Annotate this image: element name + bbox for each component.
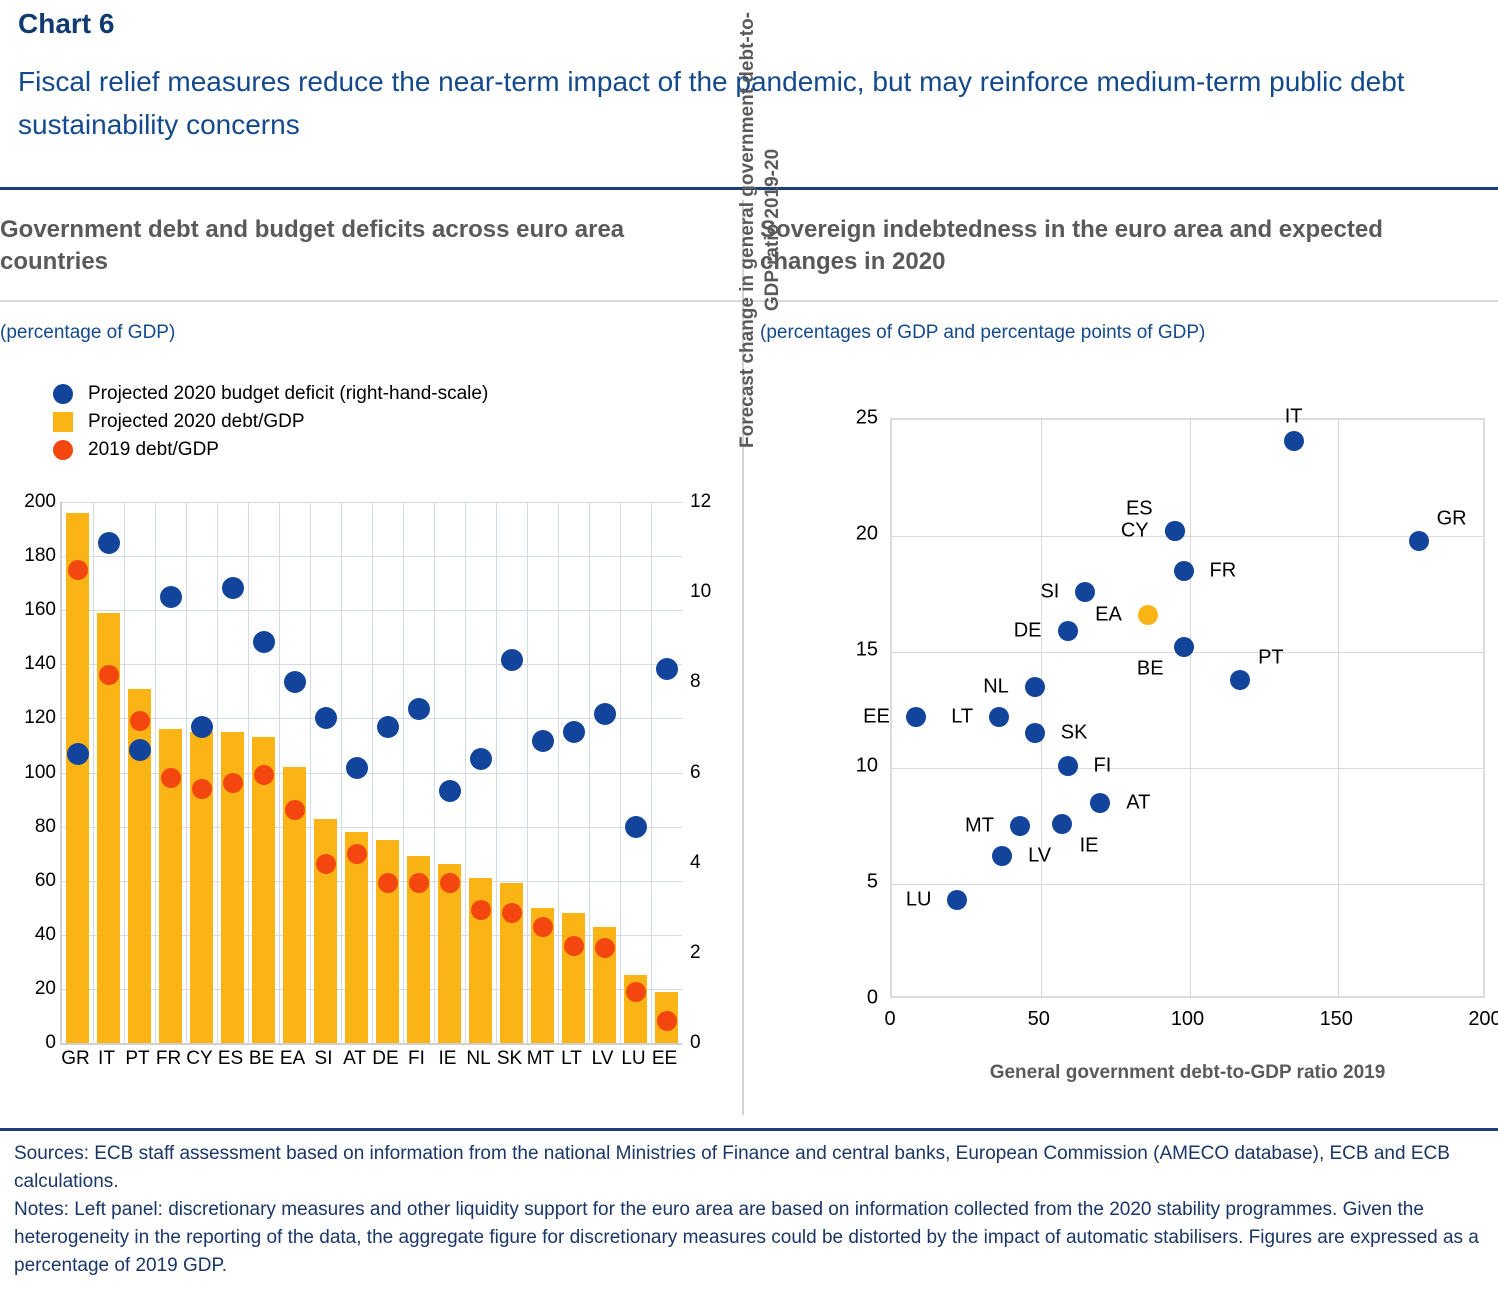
bar-y-tick-left: 200 [0,491,56,513]
bar-y-tick-right: 12 [690,491,750,513]
scatter-gridline [892,768,1483,769]
scatter-x-tick: 0 [860,1008,920,1031]
deficit-2020-marker [222,577,244,599]
scatter-gridline-vertical [1338,420,1339,996]
scatter-point [1058,756,1078,776]
deficit-2020-marker [563,721,585,743]
bar-gridline-vertical [310,502,311,1043]
scatter-gridline-vertical [1190,420,1191,996]
bar-y-tick-left: 100 [0,762,56,784]
scatter-point [1174,561,1194,581]
scatter-gridline [892,536,1483,537]
debt-2019-marker [626,982,646,1002]
bar-gridline-vertical [465,502,466,1043]
chart-number: Chart 6 [18,8,114,40]
scatter-point [1058,621,1078,641]
bar-x-tick: NL [466,1048,490,1070]
scatter-point-label: DE [1014,620,1042,643]
scatter-point-label: GR [1437,507,1467,530]
legend-label: 2019 debt/GDP [88,439,219,461]
bar-gridline-vertical [279,502,280,1043]
bar-x-tick: AT [343,1048,366,1070]
scatter-point-label: NL [983,675,1009,698]
deficit-2020-marker [67,743,89,765]
scatter-point-label: BE [1137,658,1164,681]
bar-y-tick-right: 10 [690,581,750,603]
bar-gridline-vertical [93,502,94,1043]
deficit-2020-marker [501,649,523,671]
debt-2019-marker [409,873,429,893]
debt-2019-marker [657,1011,677,1031]
bar-gridline-vertical [589,502,590,1043]
left-panel-units: (percentage of GDP) [0,322,175,344]
deficit-2020-marker [253,631,275,653]
scatter-point-label: IE [1080,834,1099,857]
bar [314,819,336,1044]
bar-gridline-vertical [186,502,187,1043]
scatter-point [1138,605,1158,625]
bar-gridline-vertical [527,502,528,1043]
bar-gridline-vertical [558,502,559,1043]
debt-2019-marker [595,938,615,958]
scatter-point [1284,431,1304,451]
bar-y-tick-right: 6 [690,762,750,784]
scatter-x-tick: 100 [1158,1008,1218,1031]
bar-x-tick: IE [439,1048,457,1070]
debt-2019-marker [316,854,336,874]
scatter-y-axis-label: Forecast change in general government de… [736,0,785,460]
deficit-2020-marker [284,671,306,693]
bar-x-tick: EA [280,1048,305,1070]
debt-2019-marker [533,917,553,937]
right-panel-units: (percentages of GDP and percentage point… [760,322,1205,344]
scatter-point [1230,670,1250,690]
bar-x-tick: LV [592,1048,614,1070]
bar [66,513,88,1043]
legend-item[interactable]: 2019 debt/GDP [52,436,488,464]
bar-plot-area [60,502,682,1045]
scatter-x-tick: 200 [1455,1008,1498,1031]
bar-x-tick: EE [652,1048,677,1070]
bar-gridline-vertical [496,502,497,1043]
bar-x-tick: IT [98,1048,115,1070]
debt-2019-marker [130,711,150,731]
bar-y-tick-left: 40 [0,924,56,946]
bar-y-tick-left: 120 [0,707,56,729]
scatter-point [1025,723,1045,743]
scatter-point [992,846,1012,866]
scatter-point-label: ES [1126,498,1153,521]
debt-2019-marker [471,900,491,920]
bar-gridline-vertical [651,502,652,1043]
debt-2019-marker [502,903,522,923]
debt-2019-marker [192,779,212,799]
bar-x-tick: SI [315,1048,333,1070]
debt-2019-marker [223,773,243,793]
bar-y-tick-right: 4 [690,852,750,874]
legend-label: Projected 2020 budget deficit (right-han… [88,383,488,405]
debt-2019-marker [285,800,305,820]
scatter-y-tick: 10 [832,755,878,778]
legend-dot-icon [52,439,74,461]
scatter-point-label: LV [1028,845,1051,868]
bar-y-tick-left: 20 [0,978,56,1000]
left-panel-subdivider [0,300,742,302]
deficit-2020-marker [98,532,120,554]
bar-x-tick: SK [497,1048,522,1070]
bar-x-tick: PT [125,1048,149,1070]
bar [376,840,398,1043]
footer-divider [0,1128,1498,1131]
scatter-point [1165,521,1185,541]
scatter-point-label: PT [1258,646,1284,669]
scatter-y-tick: 15 [832,639,878,662]
deficit-2020-marker [129,739,151,761]
scatter-plot-area: EELULVLTMTNLSKIEFIDESIATEACYESBEFRPTITGR [890,418,1485,998]
legend-label: Projected 2020 debt/GDP [88,411,305,433]
scatter-y-tick: 5 [832,871,878,894]
debt-2019-marker [378,873,398,893]
debt-2019-marker [161,768,181,788]
bar-x-tick: FI [408,1048,425,1070]
bar-y-tick-left: 140 [0,653,56,675]
bar-y-tick-right: 0 [690,1032,750,1054]
scatter-y-tick: 0 [832,987,878,1010]
scatter-x-tick: 150 [1306,1008,1366,1031]
deficit-2020-marker [408,698,430,720]
scatter-point [1174,637,1194,657]
chart-page: Chart 6 Fiscal relief measures reduce th… [0,0,1498,1302]
bar-gridline-vertical [248,502,249,1043]
right-panel-title: Sovereign indebtedness in the euro area … [760,214,1480,279]
scatter-point [1075,582,1095,602]
legend-item[interactable]: Projected 2020 debt/GDP [52,408,488,436]
legend-dot-icon [52,383,74,405]
bar-x-tick: FR [156,1048,181,1070]
left-panel-title: Government debt and budget deficits acro… [0,214,720,279]
scatter-point [1010,816,1030,836]
bar-x-tick: DE [372,1048,398,1070]
scatter-point-label: SI [1040,580,1059,603]
bar-y-tick-right: 8 [690,671,750,693]
debt-2019-marker [347,844,367,864]
bar-gridline-vertical [124,502,125,1043]
scatter-y-tick: 25 [832,407,878,430]
bar-y-tick-left: 60 [0,870,56,892]
bar-gridline-vertical [403,502,404,1043]
notes-text: Notes: Left panel: discretionary measure… [14,1196,1492,1280]
scatter-point-label: SK [1061,722,1088,745]
bar-x-tick: LU [621,1048,645,1070]
scatter-point-label: AT [1126,791,1150,814]
deficit-2020-marker [191,716,213,738]
bar [562,913,584,1043]
deficit-2020-marker [594,703,616,725]
scatter-point [906,707,926,727]
scatter-point [1052,814,1072,834]
bar-x-tick: MT [527,1048,554,1070]
scatter-point [947,890,967,910]
right-panel-subdivider [744,300,1498,302]
scatter-point [1409,531,1429,551]
debt-2019-marker [68,560,88,580]
bar-x-tick: LT [561,1048,582,1070]
bar-x-tick: BE [249,1048,274,1070]
debt-2019-marker [99,665,119,685]
scatter-point [1090,793,1110,813]
bar-chart: 020406080100120140160180200 024681012 GR… [0,492,742,1092]
scatter-chart: EELULVLTMTNLSKIEFIDESIATEACYESBEFRPTITGR… [744,400,1498,1100]
scatter-point [989,707,1009,727]
legend-square-icon [52,411,74,433]
deficit-2020-marker [470,748,492,770]
deficit-2020-marker [315,707,337,729]
scatter-point-label: MT [965,815,994,838]
bar-y-tick-left: 180 [0,545,56,567]
scatter-gridline-vertical [1041,420,1042,996]
bar-gridline-vertical [434,502,435,1043]
debt-2019-marker [254,765,274,785]
footnotes: Sources: ECB staff assessment based on i… [14,1140,1492,1280]
scatter-point [1025,677,1045,697]
bar-gridline-vertical [372,502,373,1043]
bar-gridline-vertical [155,502,156,1043]
scatter-y-tick: 20 [832,523,878,546]
sources-text: Sources: ECB staff assessment based on i… [14,1140,1492,1196]
scatter-point-label: CY [1121,520,1149,543]
deficit-2020-marker [439,780,461,802]
deficit-2020-marker [346,757,368,779]
deficit-2020-marker [656,658,678,680]
scatter-point-label: FI [1094,754,1112,777]
scatter-x-tick: 50 [1009,1008,1069,1031]
scatter-point-label: EA [1095,603,1122,626]
bar-x-tick: GR [61,1048,90,1070]
bar [345,832,367,1043]
bar-gridline-vertical [620,502,621,1043]
bar-x-tick: ES [218,1048,243,1070]
scatter-gridline [892,884,1483,885]
deficit-2020-marker [625,816,647,838]
bar-gridline-vertical [341,502,342,1043]
scatter-point-label: LT [951,705,973,728]
bar-chart-legend: Projected 2020 budget deficit (right-han… [52,380,488,464]
bar-x-tick: CY [186,1048,212,1070]
debt-2019-marker [564,936,584,956]
bar-y-tick-right: 2 [690,942,750,964]
bar-y-tick-left: 160 [0,599,56,621]
scatter-point-label: IT [1285,405,1303,428]
bar-y-tick-left: 0 [0,1032,56,1054]
debt-2019-marker [440,873,460,893]
scatter-point-label: FR [1210,559,1237,582]
bar-y-tick-left: 80 [0,816,56,838]
scatter-point-label: LU [906,889,932,912]
deficit-2020-marker [377,716,399,738]
deficit-2020-marker [532,730,554,752]
bar-gridline-vertical [217,502,218,1043]
legend-item[interactable]: Projected 2020 budget deficit (right-han… [52,380,488,408]
scatter-x-axis-label: General government debt-to-GDP ratio 201… [890,1062,1485,1084]
deficit-2020-marker [160,586,182,608]
scatter-point-label: EE [863,705,890,728]
